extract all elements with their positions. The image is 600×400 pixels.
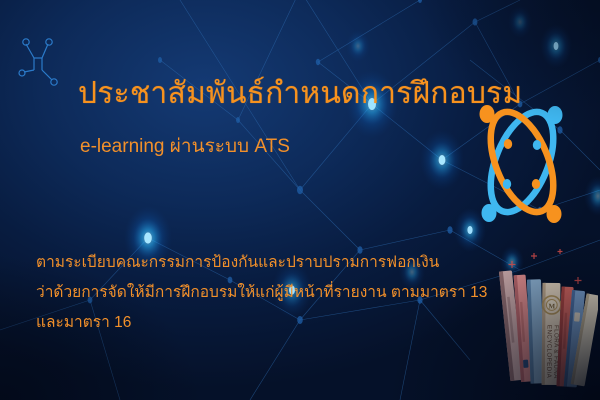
- body-text: ตามระเบียบคณะกรรมการป้องกันและปราบปรามกา…: [36, 248, 487, 339]
- atom-logo-icon: [466, 96, 578, 228]
- body-line: และมาตรา 16: [36, 308, 487, 338]
- body-line: ตามระเบียบคณะกรรมการป้องกันและปราบปรามกา…: [36, 248, 487, 278]
- page-subtitle: e-learning ผ่านระบบ ATS: [80, 136, 290, 159]
- book-medal-letter: M: [548, 302, 555, 310]
- page-title: ประชาสัมพันธ์กำหนดการฝึกอบรม: [78, 76, 522, 111]
- announcement-banner: M FLORA & FAUNA ENCYCLOPEDIA: [0, 0, 600, 400]
- book-spine-label-2: ENCYCLOPEDIA: [545, 325, 552, 379]
- molecule-icon: [8, 28, 70, 90]
- book-stack-icon: M FLORA & FAUNA ENCYCLOPEDIA: [498, 243, 598, 398]
- body-line: ว่าด้วยการจัดให้มีการฝึกอบรมให้แก่ผู้มีห…: [36, 278, 487, 308]
